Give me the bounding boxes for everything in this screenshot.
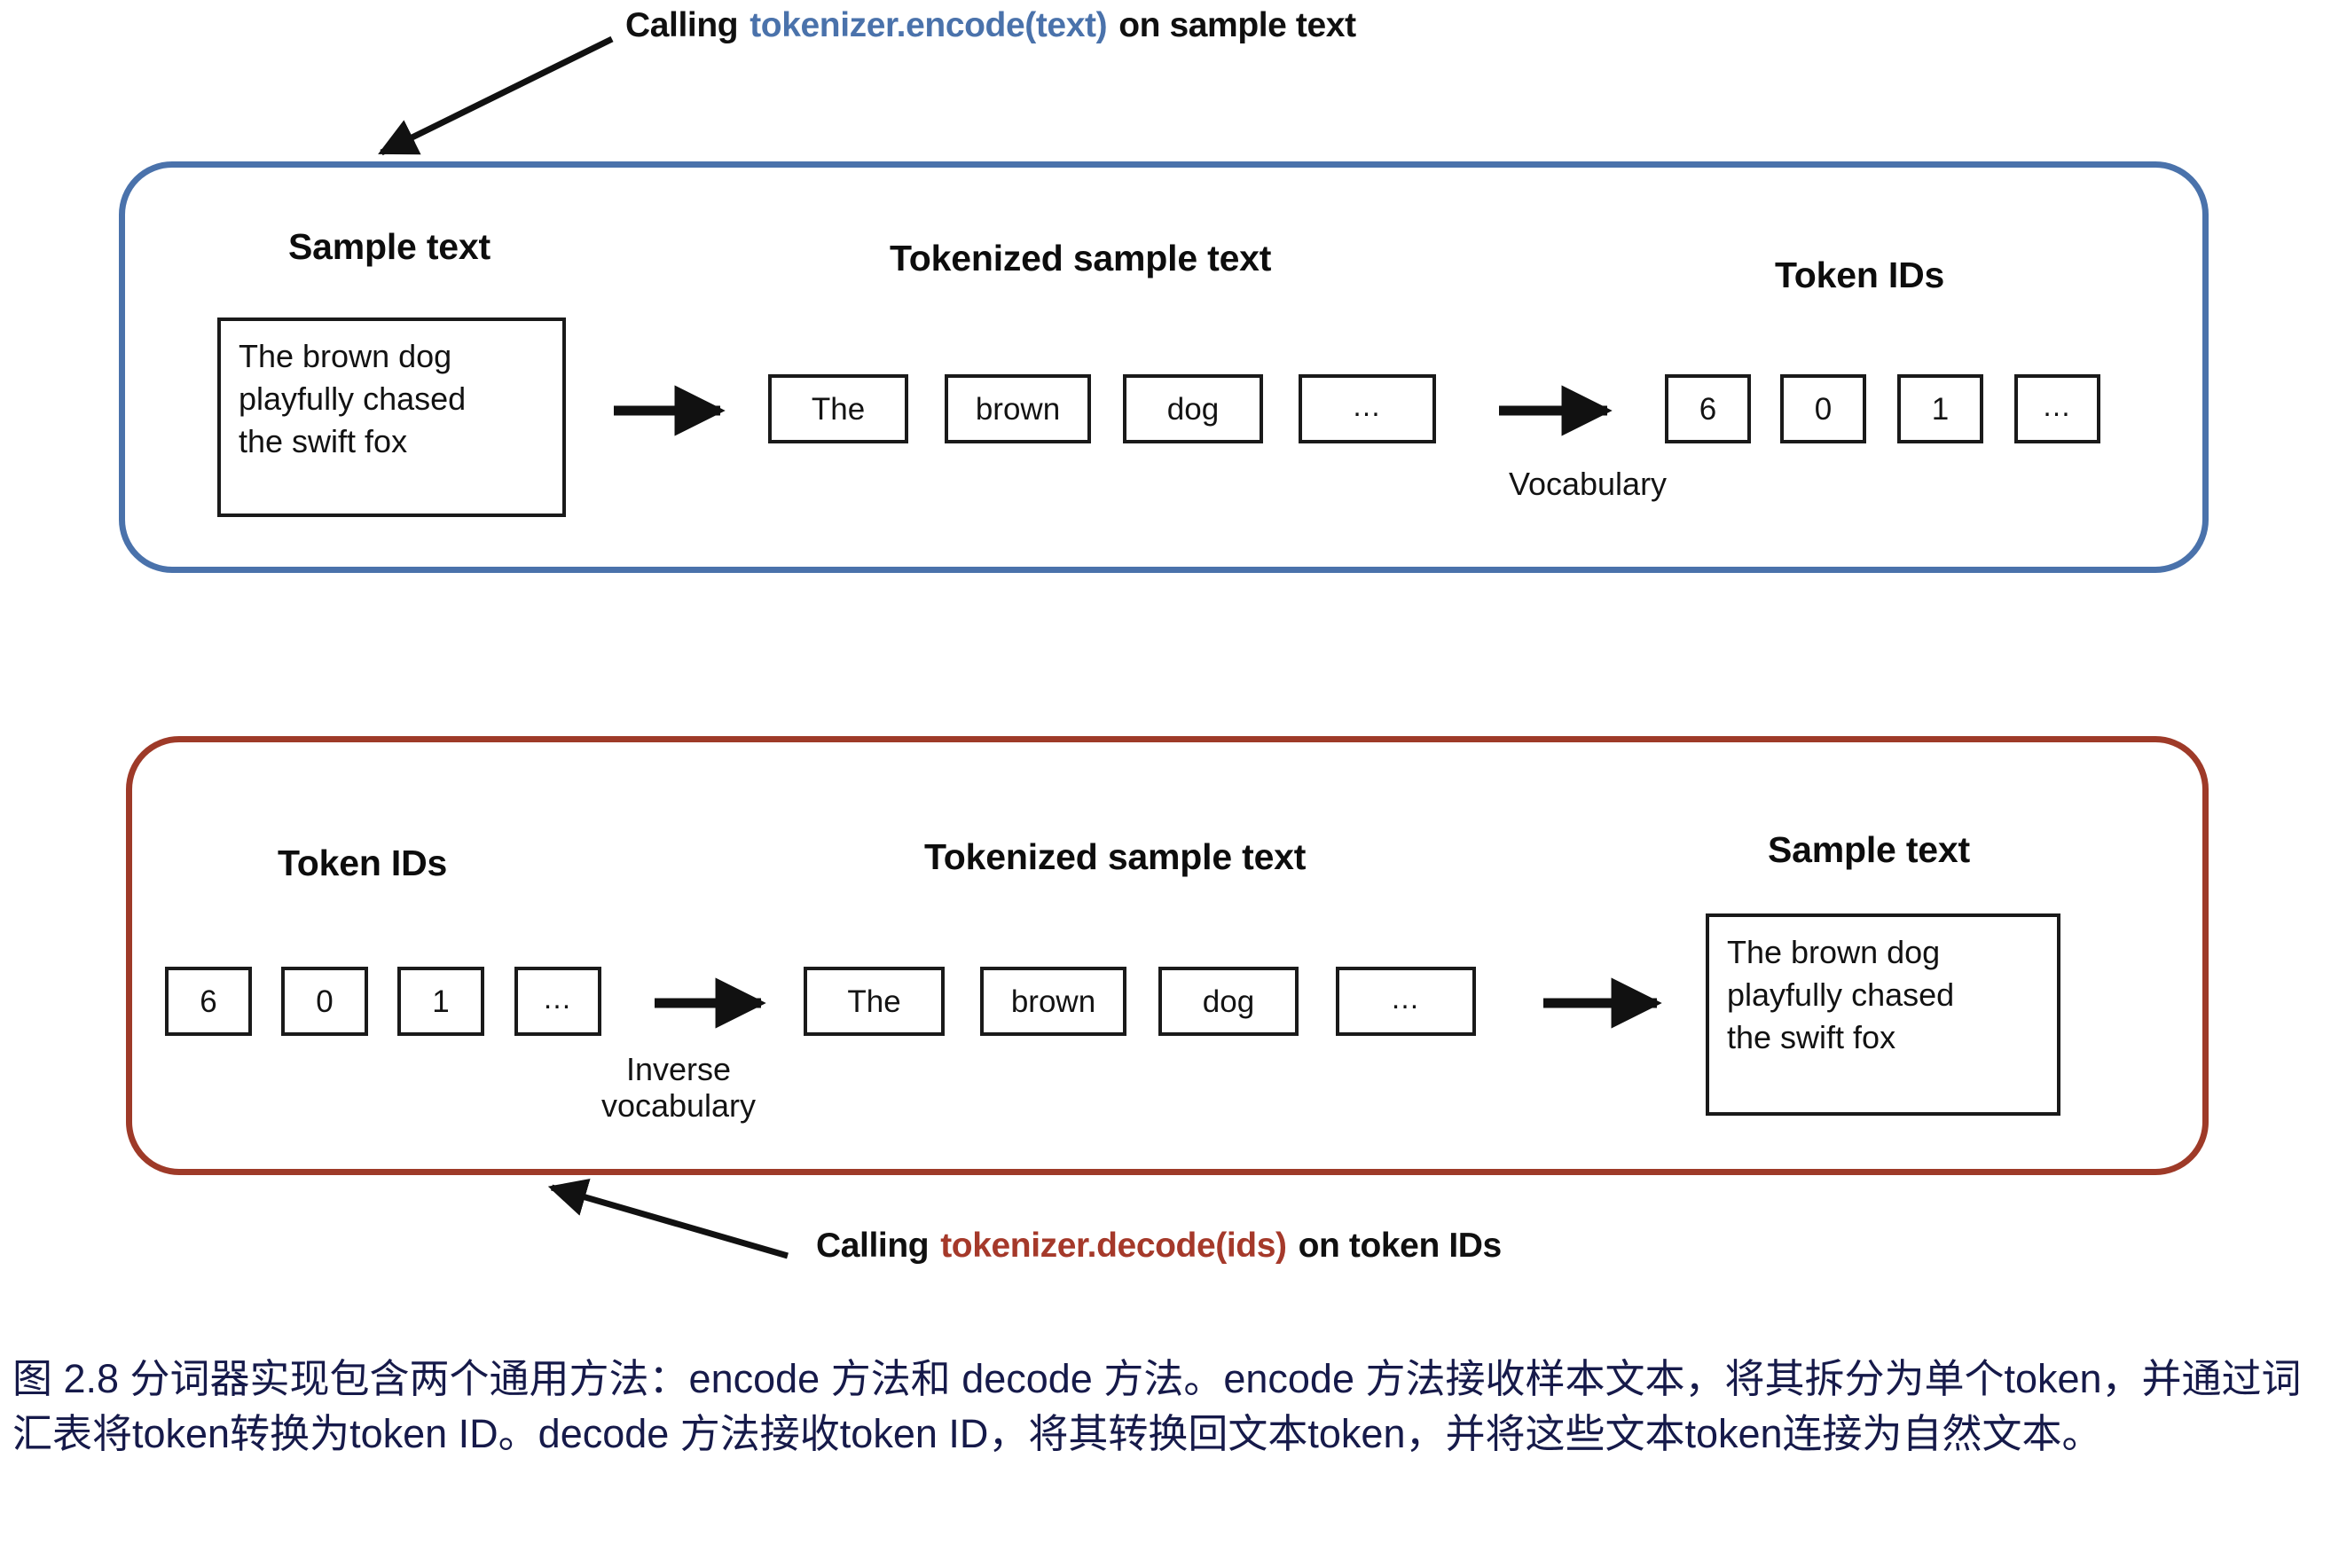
- encode-token-cell: The: [768, 374, 908, 443]
- decode-token-ids-title: Token IDs: [278, 843, 447, 884]
- decode-annotation: Callingtokenizer.decode(ids)on token IDs: [816, 1227, 1502, 1266]
- encode-vocabulary-label: Vocabulary: [1450, 466, 1725, 502]
- decode-annotation-code: tokenizer.decode(ids): [940, 1227, 1286, 1265]
- encode-token-id-cell: 1: [1897, 374, 1983, 443]
- decode-token-id-cell: 6: [165, 967, 252, 1036]
- encode-tokenized-title: Tokenized sample text: [890, 238, 1271, 279]
- encode-annotation-code: tokenizer.encode(text): [750, 6, 1107, 44]
- decode-sample-text-line-2: playfully chased: [1727, 974, 2045, 1016]
- encode-sample-text-line-1: The brown dog: [239, 335, 550, 378]
- decode-sample-text-line-3: the swift fox: [1727, 1016, 2045, 1059]
- encode-annotation-prefix: Calling: [625, 6, 738, 44]
- encode-sample-text-line-2: playfully chased: [239, 378, 550, 420]
- decode-inverse-vocabulary-label: Inverse vocabulary: [537, 1051, 820, 1124]
- figure-canvas: Callingtokenizer.encode(text)on sample t…: [0, 0, 2331, 1568]
- decode-token-id-cell-ellipsis: …: [514, 967, 601, 1036]
- decode-token-cell: The: [804, 967, 945, 1036]
- encode-annotation-suffix: on sample text: [1118, 6, 1355, 44]
- decode-token-cell-ellipsis: …: [1336, 967, 1476, 1036]
- decode-inverse-vocabulary-line-2: vocabulary: [537, 1087, 820, 1124]
- encode-token-ids-title: Token IDs: [1775, 255, 1944, 296]
- encode-token-id-cell: 0: [1780, 374, 1866, 443]
- figure-caption: 图 2.8 分词器实现包含两个通用方法：encode 方法和 decode 方法…: [12, 1352, 2319, 1461]
- encode-token-id-cell: 6: [1665, 374, 1751, 443]
- encode-annotation: Callingtokenizer.encode(text)on sample t…: [625, 6, 1356, 45]
- decode-token-cell: dog: [1158, 967, 1299, 1036]
- decode-callout-arrow: [552, 1188, 788, 1256]
- decode-token-id-cell: 1: [397, 967, 484, 1036]
- encode-token-cell: dog: [1123, 374, 1263, 443]
- encode-sample-text-title: Sample text: [288, 226, 491, 268]
- decode-annotation-suffix: on token IDs: [1299, 1227, 1502, 1265]
- encode-sample-text-box: The brown dog playfully chased the swift…: [217, 318, 566, 517]
- decode-sample-text-line-1: The brown dog: [1727, 931, 2045, 974]
- decode-token-cell: brown: [980, 967, 1126, 1036]
- encode-sample-text-line-3: the swift fox: [239, 420, 550, 463]
- decode-annotation-prefix: Calling: [816, 1227, 929, 1265]
- encode-token-id-cell-ellipsis: …: [2014, 374, 2100, 443]
- decode-inverse-vocabulary-line-1: Inverse: [537, 1051, 820, 1087]
- encode-token-cell-ellipsis: …: [1299, 374, 1436, 443]
- decode-sample-text-title: Sample text: [1768, 829, 1970, 871]
- decode-tokenized-title: Tokenized sample text: [924, 836, 1306, 878]
- decode-sample-text-box: The brown dog playfully chased the swift…: [1706, 913, 2060, 1116]
- encode-token-cell: brown: [945, 374, 1091, 443]
- encode-callout-arrow: [381, 39, 612, 153]
- decode-token-id-cell: 0: [281, 967, 368, 1036]
